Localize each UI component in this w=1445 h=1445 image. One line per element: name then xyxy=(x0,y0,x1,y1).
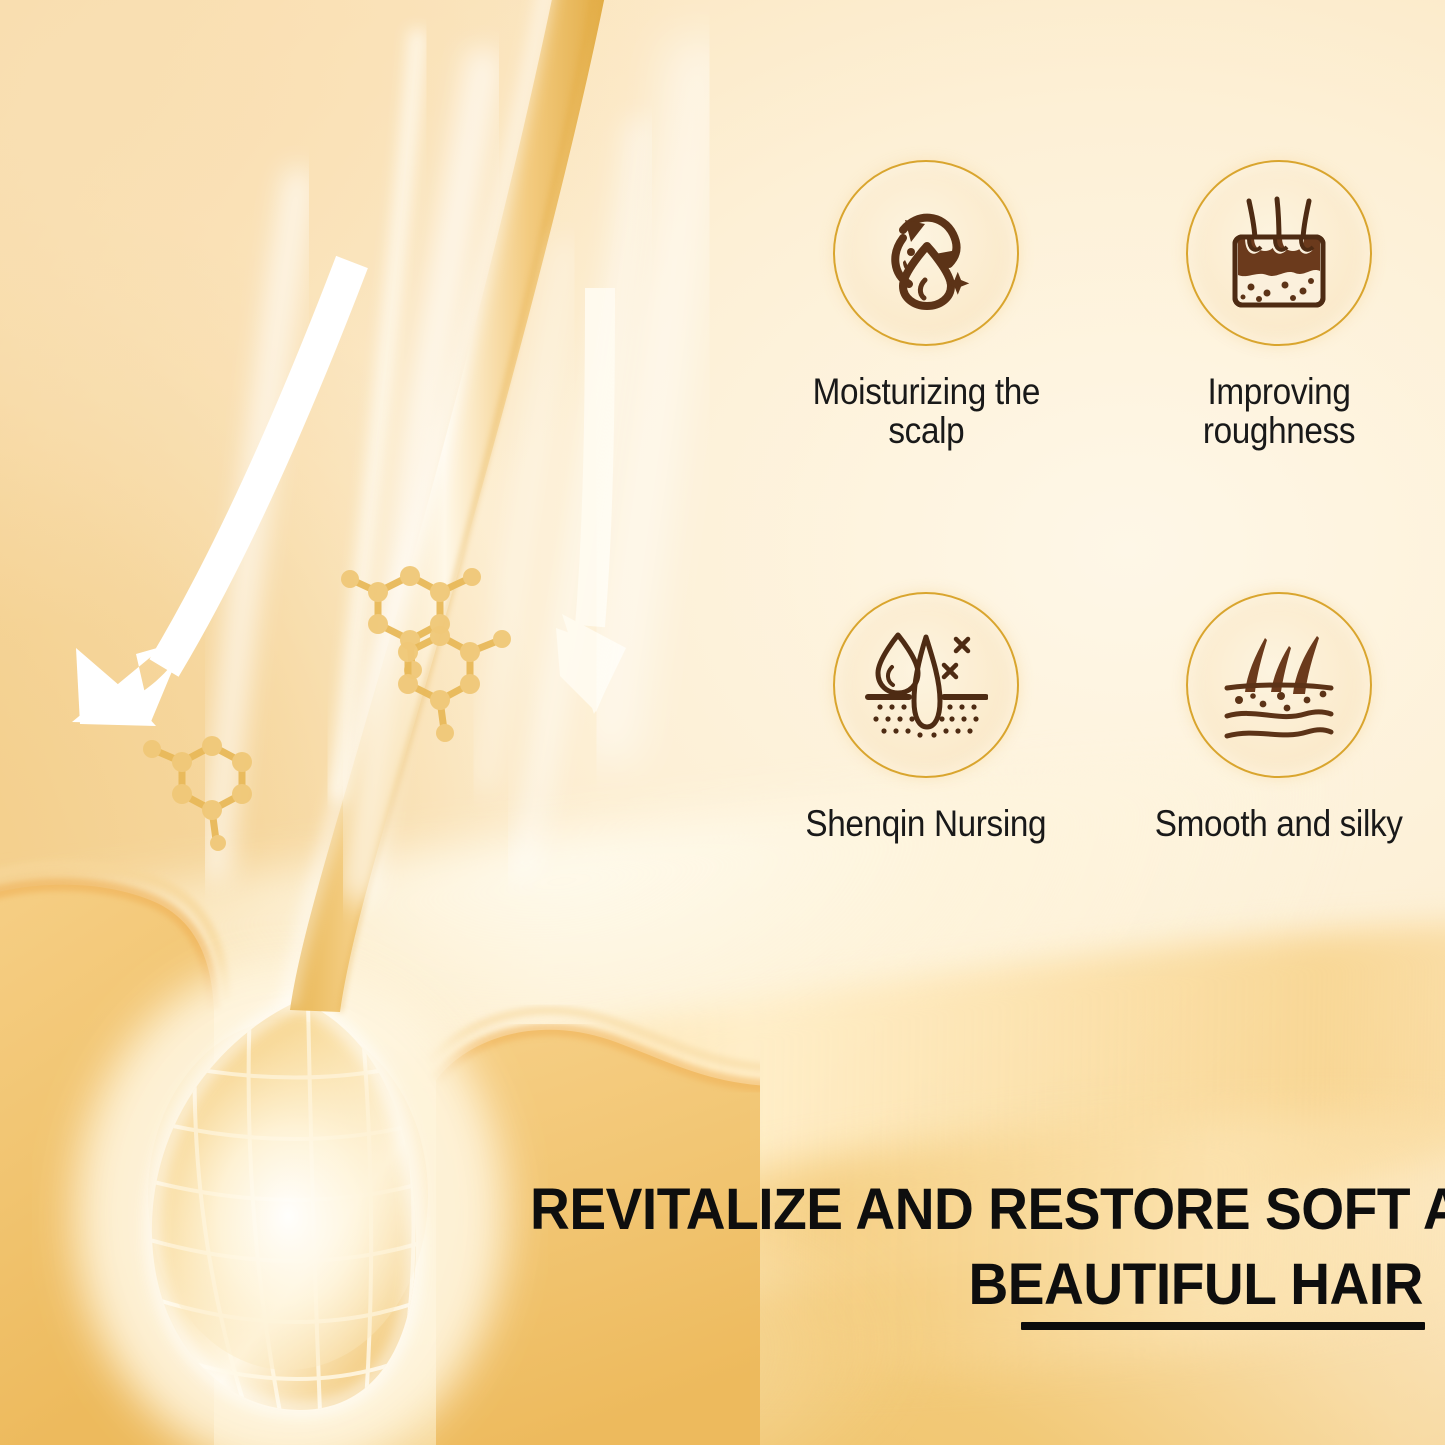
sparkle-icon xyxy=(944,639,968,677)
headline-line-2: BEAUTIFUL HAIR xyxy=(530,1247,1423,1322)
infographic-canvas: Moisturizing the scalp xyxy=(0,0,1445,1445)
feature-icon-circle xyxy=(833,160,1019,346)
feature-icon-circle xyxy=(833,592,1019,778)
three-hairs-waves-icon xyxy=(1217,626,1341,744)
wave-lines xyxy=(1227,712,1331,736)
pore-dots xyxy=(874,704,979,737)
feature-moisturizing-the-scalp[interactable]: Moisturizing the scalp xyxy=(760,160,1093,558)
page-headline: REVITALIZE AND RESTORE SOFT AND BEAUTIFU… xyxy=(530,1172,1423,1323)
feature-shenqin-nursing[interactable]: Shenqin Nursing xyxy=(760,592,1093,990)
feature-label: Shenqin Nursing xyxy=(806,804,1047,843)
droplet-follicle-pores-icon xyxy=(864,623,988,747)
headline-line-1: REVITALIZE AND RESTORE SOFT AND xyxy=(530,1172,1423,1247)
feature-improving-roughness[interactable]: Improving roughness xyxy=(1113,160,1445,558)
headline-underline xyxy=(1021,1322,1425,1330)
skin-layer-follicles-icon xyxy=(1219,193,1339,313)
feature-smooth-and-silky[interactable]: Smooth and silky xyxy=(1113,592,1445,990)
feature-icon-circle xyxy=(1186,592,1372,778)
hair-shaft xyxy=(288,0,612,1012)
flow-arrow-left xyxy=(72,262,352,726)
refresh-droplet-icon xyxy=(867,194,985,312)
right-glow-band xyxy=(606,40,700,760)
droplet-shape xyxy=(878,635,918,693)
arrowhead-top xyxy=(905,220,925,242)
feature-label: Moisturizing the scalp xyxy=(813,372,1040,450)
feature-label: Improving roughness xyxy=(1130,372,1427,450)
pore-dots xyxy=(1235,691,1326,712)
feature-label: Smooth and silky xyxy=(1155,804,1403,843)
feature-icon-circle xyxy=(1186,160,1372,346)
feature-grid: Moisturizing the scalp xyxy=(760,160,1445,990)
